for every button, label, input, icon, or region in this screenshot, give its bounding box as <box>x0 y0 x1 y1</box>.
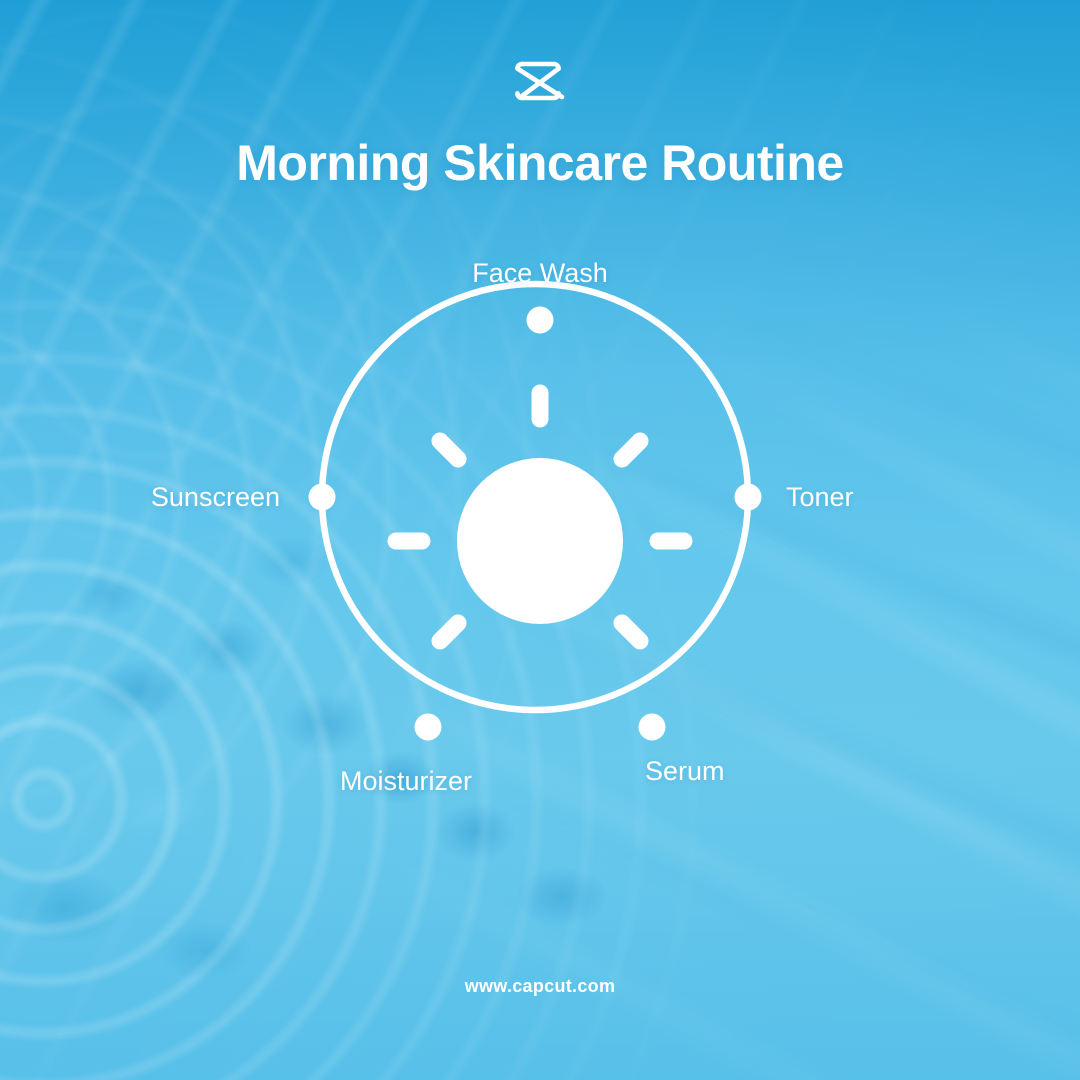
cycle-label-moisturizer: Moisturizer <box>340 768 472 795</box>
cycle-diagram <box>0 0 1080 1080</box>
cycle-label-sunscreen: Sunscreen <box>151 484 280 511</box>
poster-canvas: Morning Skincare Routine <box>0 0 1080 1080</box>
cycle-node-sunscreen[interactable] <box>309 484 336 511</box>
cycle-label-face-wash: Face Wash <box>472 260 608 287</box>
cycle-label-serum: Serum <box>645 758 725 785</box>
cycle-node-face-wash[interactable] <box>527 307 554 334</box>
footer-url: www.capcut.com <box>0 976 1080 997</box>
cycle-label-toner: Toner <box>786 484 854 511</box>
cycle-node-toner[interactable] <box>735 484 762 511</box>
sun-core-icon <box>457 458 623 624</box>
cycle-node-moisturizer[interactable] <box>415 714 442 741</box>
cycle-node-serum[interactable] <box>639 714 666 741</box>
